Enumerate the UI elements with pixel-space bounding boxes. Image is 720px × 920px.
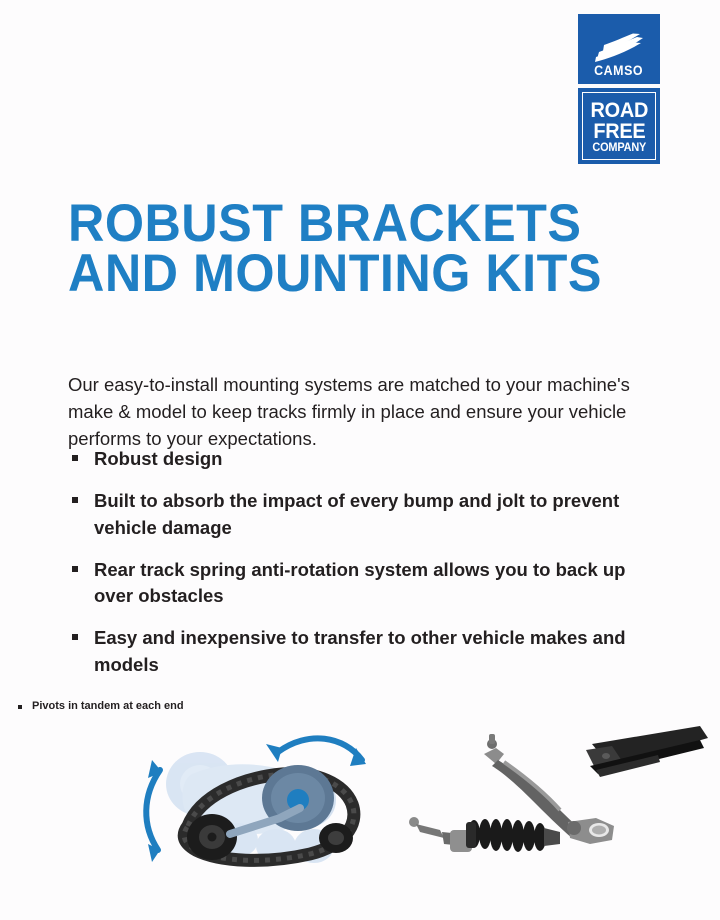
footnote-label: Pivots in tandem at each end [32,700,184,712]
feature-bullet-list: Robust design Built to absorb the impact… [70,446,630,694]
square-bullet-icon [72,634,78,640]
list-item-label: Rear track spring anti-rotation system a… [94,559,626,606]
badge-line-free: FREE [593,121,645,142]
page-title-line-2: AND MOUNTING KITS [68,249,602,299]
track-pivot-diagram [130,722,400,877]
camso-mountain-mark-icon [593,32,645,62]
road-free-company-badge: ROAD FREE COMPANY [578,88,660,164]
square-bullet-icon [72,566,78,572]
badge-line-road: ROAD [590,100,648,121]
list-item-label: Robust design [94,448,222,469]
footnote: Pivots in tandem at each end [18,700,184,712]
square-bullet-icon [18,705,22,709]
camso-logo-badge: CAMSO [578,14,660,84]
list-item-label: Easy and inexpensive to transfer to othe… [94,627,626,674]
page-title: ROBUST BRACKETS AND MOUNTING KITS [68,199,602,300]
mounting-hardware-photo [400,722,710,872]
list-item: Rear track spring anti-rotation system a… [70,557,630,610]
list-item-label: Built to absorb the impact of every bump… [94,490,619,537]
brand-logo-stack: CAMSO ROAD FREE COMPANY [578,14,660,164]
square-bullet-icon [72,497,78,503]
list-item: Built to absorb the impact of every bump… [70,488,630,541]
camso-wordmark: CAMSO [595,64,644,78]
list-item: Easy and inexpensive to transfer to othe… [70,625,630,678]
pivot-arrow-top [266,738,366,766]
square-bullet-icon [72,455,78,461]
figure-zone [0,722,720,882]
badge-line-company: COMPANY [592,143,646,155]
pivot-arrow-left [146,760,162,862]
intro-paragraph: Our easy-to-install mounting systems are… [68,371,638,453]
rear-roller [319,823,353,853]
page-title-line-1: ROBUST BRACKETS [68,199,602,249]
list-item: Robust design [70,446,630,472]
